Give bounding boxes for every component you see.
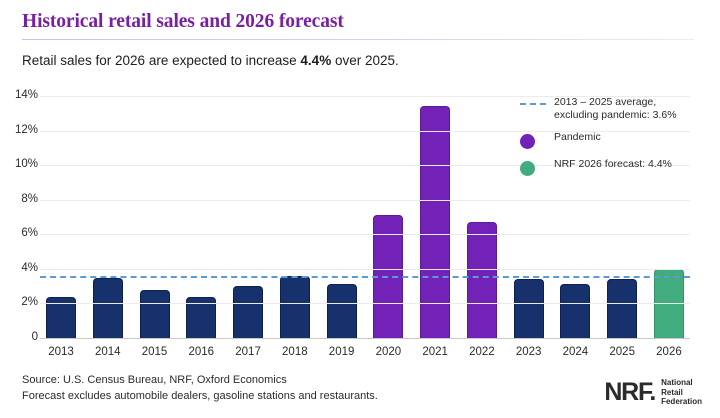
legend-item-pandemic[interactable]: Pandemic bbox=[520, 131, 720, 149]
bar-column bbox=[327, 96, 357, 338]
x-axis-label-2014: 2014 bbox=[93, 346, 123, 358]
legend-pandemic-label: Pandemic bbox=[554, 131, 601, 144]
nrf-logo: NRF. National Retail Federation bbox=[604, 378, 702, 407]
y-axis-tick-label: 2% bbox=[0, 296, 38, 308]
bar-2018[interactable] bbox=[280, 276, 310, 338]
footnote-text: Forecast excludes automobile dealers, ga… bbox=[22, 388, 582, 404]
x-axis-labels: 2013201420152016201720182019202020212022… bbox=[40, 346, 690, 358]
nrf-logo-text: National Retail Federation bbox=[661, 378, 702, 407]
legend-forecast-label: NRF 2026 forecast: 4.4% bbox=[554, 158, 672, 171]
nrf-logo-line3: Federation bbox=[661, 397, 702, 407]
bar-column bbox=[420, 96, 450, 338]
bar-2025[interactable] bbox=[607, 279, 637, 338]
legend-average-line2: excluding pandemic: 3.6% bbox=[554, 109, 677, 122]
y-axis-tick-label: 0 bbox=[0, 331, 38, 343]
bar-column bbox=[140, 96, 170, 338]
subtitle-post: over 2025. bbox=[331, 53, 399, 68]
source-text: Source: U.S. Census Bureau, NRF, Oxford … bbox=[22, 372, 582, 388]
y-axis-tick-label: 4% bbox=[0, 262, 38, 274]
bar-2019[interactable] bbox=[327, 284, 357, 338]
y-axis-tick-label: 6% bbox=[0, 227, 38, 239]
bar-column bbox=[467, 96, 497, 338]
chart-page: Historical retail sales and 2026 forecas… bbox=[0, 0, 720, 418]
nrf-logo-mark: NRF. bbox=[604, 380, 655, 405]
chart-footer: Source: U.S. Census Bureau, NRF, Oxford … bbox=[22, 372, 582, 404]
bar-column bbox=[46, 96, 76, 338]
y-axis-tick-label: 12% bbox=[0, 124, 38, 136]
nrf-logo-line1: National bbox=[661, 378, 702, 388]
x-axis-label-2018: 2018 bbox=[280, 346, 310, 358]
dashed-line-icon bbox=[520, 96, 554, 105]
bar-column bbox=[233, 96, 263, 338]
bar-column bbox=[280, 96, 310, 338]
gridline bbox=[40, 200, 690, 201]
chart-subtitle: Retail sales for 2026 are expected to in… bbox=[22, 52, 698, 70]
x-axis-label-2019: 2019 bbox=[327, 346, 357, 358]
x-axis-label-2017: 2017 bbox=[233, 346, 263, 358]
y-axis-tick-label: 10% bbox=[0, 158, 38, 170]
y-axis-tick-label: 8% bbox=[0, 193, 38, 205]
y-axis-tick-label: 14% bbox=[0, 89, 38, 101]
green-dot-icon bbox=[520, 158, 554, 176]
legend-item-forecast[interactable]: NRF 2026 forecast: 4.4% bbox=[520, 158, 720, 176]
x-axis-label-2025: 2025 bbox=[607, 346, 637, 358]
x-axis-label-2021: 2021 bbox=[420, 346, 450, 358]
x-axis-label-2024: 2024 bbox=[560, 346, 590, 358]
bar-2022[interactable] bbox=[467, 222, 497, 338]
bar-2017[interactable] bbox=[233, 286, 263, 338]
gridline bbox=[40, 338, 690, 339]
bar-2024[interactable] bbox=[560, 284, 590, 338]
x-axis-label-2023: 2023 bbox=[514, 346, 544, 358]
x-axis-label-2020: 2020 bbox=[373, 346, 403, 358]
bar-column bbox=[93, 96, 123, 338]
x-axis-label-2016: 2016 bbox=[186, 346, 216, 358]
legend-average-label: 2013 – 2025 average, excluding pandemic:… bbox=[554, 96, 677, 122]
x-axis-label-2022: 2022 bbox=[467, 346, 497, 358]
gridline bbox=[40, 303, 690, 304]
average-reference-line bbox=[40, 276, 690, 278]
subtitle-highlight: 4.4% bbox=[300, 53, 331, 68]
chart-legend: 2013 – 2025 average, excluding pandemic:… bbox=[520, 96, 720, 185]
gridline bbox=[40, 234, 690, 235]
page-title: Historical retail sales and 2026 forecas… bbox=[22, 10, 698, 34]
bar-column bbox=[373, 96, 403, 338]
bar-column bbox=[186, 96, 216, 338]
bar-2015[interactable] bbox=[140, 290, 170, 338]
chart-header: Historical retail sales and 2026 forecas… bbox=[0, 0, 720, 70]
title-divider bbox=[22, 39, 694, 40]
gridline bbox=[40, 269, 690, 270]
purple-dot-icon bbox=[520, 131, 554, 149]
x-axis-label-2026: 2026 bbox=[654, 346, 684, 358]
bar-2014[interactable] bbox=[93, 278, 123, 339]
x-axis-label-2015: 2015 bbox=[140, 346, 170, 358]
bar-2023[interactable] bbox=[514, 279, 544, 338]
x-axis-label-2013: 2013 bbox=[46, 346, 76, 358]
legend-average-line1: 2013 – 2025 average, bbox=[554, 96, 677, 109]
subtitle-pre: Retail sales for 2026 are expected to in… bbox=[22, 53, 300, 68]
legend-item-average[interactable]: 2013 – 2025 average, excluding pandemic:… bbox=[520, 96, 720, 122]
nrf-logo-line2: Retail bbox=[661, 388, 702, 398]
